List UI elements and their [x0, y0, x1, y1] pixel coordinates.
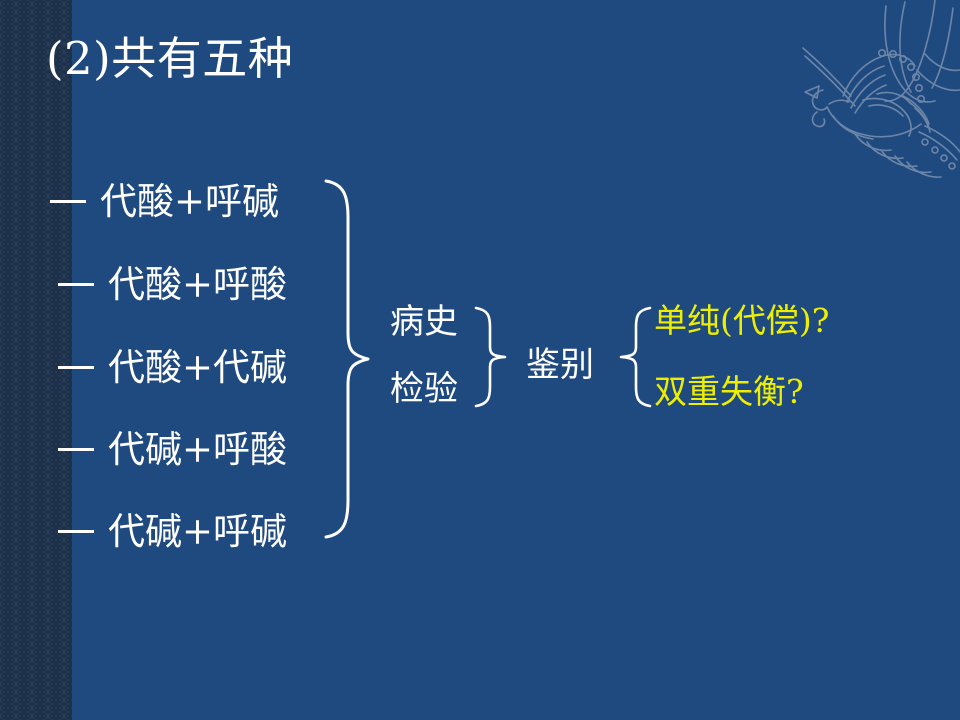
list-item-label: 代碱+呼酸 [98, 431, 287, 468]
list-item: 代酸+代碱 [58, 346, 287, 386]
list-item-label: 代酸+呼碱 [90, 183, 279, 220]
dash-icon [50, 200, 90, 203]
judge-label: 鉴别 [526, 348, 594, 382]
group-brace-middle-icon [472, 305, 512, 409]
slide-canvas: (2)共有五种 代酸+呼碱 代酸+呼酸 代酸+代碱 代碱+呼酸 代碱+呼碱 病史… [0, 0, 960, 720]
dash-icon [58, 448, 98, 451]
list-item-label: 代酸+代碱 [98, 349, 287, 386]
middle-label: 病史 [390, 305, 458, 339]
list-item: 代碱+呼碱 [58, 510, 287, 550]
middle-label: 检验 [390, 372, 458, 406]
outcome-label: 单纯(代偿)? [654, 304, 829, 337]
group-brace-large-icon [322, 178, 374, 540]
list-item: 代酸+呼酸 [58, 263, 287, 303]
list-item-label: 代酸+呼酸 [98, 266, 287, 303]
page-title: (2)共有五种 [46, 34, 293, 84]
list-item-label: 代碱+呼碱 [98, 513, 287, 550]
dash-icon [58, 283, 98, 286]
phoenix-bird-ornament-icon [785, 0, 960, 180]
dash-icon [58, 366, 98, 369]
outcome-label: 双重失衡? [654, 375, 804, 408]
dash-icon [58, 530, 98, 533]
list-item: 代酸+呼碱 [50, 180, 279, 220]
group-brace-right-icon [616, 305, 656, 409]
list-item: 代碱+呼酸 [58, 428, 287, 468]
